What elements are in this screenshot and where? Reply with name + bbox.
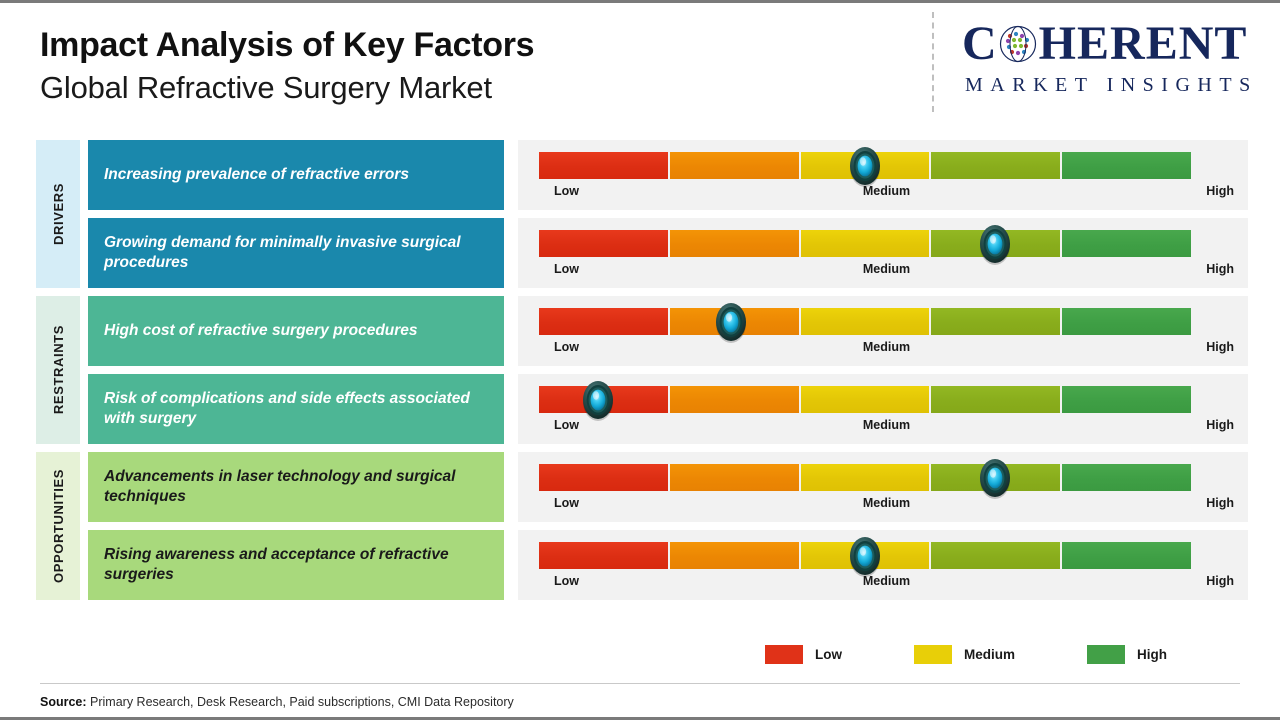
gauge-segment-2 — [670, 308, 799, 335]
gauge-segment-1 — [539, 152, 668, 179]
gauge-track — [539, 152, 1191, 179]
legend-label: High — [1137, 647, 1167, 662]
legend-swatch — [914, 645, 952, 664]
factor-row: Growing demand for minimally invasive su… — [88, 218, 1248, 288]
gauge-scale-labels: LowMediumHigh — [539, 496, 1234, 516]
top-border — [0, 0, 1280, 3]
legend-swatch — [1087, 645, 1125, 664]
gauge-segment-2 — [670, 464, 799, 491]
gauge-segment-1 — [539, 542, 668, 569]
factor-row: Risk of complications and side effects a… — [88, 374, 1248, 444]
logo-divider — [932, 12, 934, 112]
gauge-segment-2 — [670, 386, 799, 413]
gauge-scale-labels: LowMediumHigh — [539, 262, 1234, 282]
category-label-drivers: DRIVERS — [36, 140, 80, 288]
category-label-text: DRIVERS — [51, 183, 66, 245]
gauge-segment-4 — [931, 386, 1060, 413]
impact-gauge: LowMediumHigh — [518, 452, 1248, 522]
logo-tagline: MARKET INSIGHTS — [962, 74, 1258, 97]
gauge-segment-3 — [801, 542, 930, 569]
factor-label: Growing demand for minimally invasive su… — [88, 218, 504, 288]
category-block-drivers: DRIVERSIncreasing prevalence of refracti… — [36, 140, 1248, 288]
gauge-track — [539, 308, 1191, 335]
company-logo: C — [932, 8, 1262, 116]
scale-label-medium: Medium — [863, 574, 910, 588]
scale-label-low: Low — [554, 184, 579, 198]
page-subtitle: Global Refractive Surgery Market — [40, 69, 534, 106]
factor-row: Advancements in laser technology and sur… — [88, 452, 1248, 522]
impact-gauge: LowMediumHigh — [518, 530, 1248, 600]
gauge-segment-3 — [801, 386, 930, 413]
scale-label-low: Low — [554, 340, 579, 354]
gauge-segment-5 — [1062, 152, 1191, 179]
globe-dots-icon — [998, 24, 1038, 64]
source-label: Source: — [40, 695, 87, 709]
factor-row: Rising awareness and acceptance of refra… — [88, 530, 1248, 600]
scale-label-high: High — [1206, 496, 1234, 510]
gauge-segment-4 — [931, 152, 1060, 179]
legend-item: Low — [765, 645, 842, 664]
gauge-segment-5 — [1062, 308, 1191, 335]
gauge-scale-labels: LowMediumHigh — [539, 418, 1234, 438]
gauge-segment-3 — [801, 464, 930, 491]
scale-label-high: High — [1206, 340, 1234, 354]
factor-label: High cost of refractive surgery procedur… — [88, 296, 504, 366]
scale-label-high: High — [1206, 184, 1234, 198]
gauge-segment-5 — [1062, 386, 1191, 413]
gauge-segment-1 — [539, 308, 668, 335]
page-title: Impact Analysis of Key Factors — [40, 26, 534, 65]
gauge-segment-1 — [539, 230, 668, 257]
source-footer: Source: Primary Research, Desk Research,… — [40, 695, 514, 709]
scale-label-medium: Medium — [863, 340, 910, 354]
factor-label: Rising awareness and acceptance of refra… — [88, 530, 504, 600]
factor-row: High cost of refractive surgery procedur… — [88, 296, 1248, 366]
gauge-segment-2 — [670, 542, 799, 569]
scale-label-medium: Medium — [863, 418, 910, 432]
gauge-segment-5 — [1062, 230, 1191, 257]
gauge-track — [539, 464, 1191, 491]
impact-gauge: LowMediumHigh — [518, 140, 1248, 210]
category-rows: High cost of refractive surgery procedur… — [88, 296, 1248, 444]
gauge-segment-4 — [931, 542, 1060, 569]
gauge-scale-labels: LowMediumHigh — [539, 184, 1234, 204]
gauge-segment-2 — [670, 152, 799, 179]
category-label-text: OPPORTUNITIES — [51, 469, 66, 583]
scale-label-high: High — [1206, 418, 1234, 432]
gauge-segment-1 — [539, 386, 668, 413]
category-rows: Increasing prevalence of refractive erro… — [88, 140, 1248, 288]
gauge-segment-2 — [670, 230, 799, 257]
impact-gauge: LowMediumHigh — [518, 296, 1248, 366]
gauge-segment-1 — [539, 464, 668, 491]
gauge-segment-3 — [801, 308, 930, 335]
factor-label: Advancements in laser technology and sur… — [88, 452, 504, 522]
gauge-segment-3 — [801, 230, 930, 257]
legend-swatch — [765, 645, 803, 664]
gauge-track — [539, 386, 1191, 413]
scale-label-low: Low — [554, 262, 579, 276]
gauge-scale-labels: LowMediumHigh — [539, 574, 1234, 594]
page-header: Impact Analysis of Key Factors Global Re… — [40, 26, 534, 106]
category-block-opportunities: OPPORTUNITIESAdvancements in laser techn… — [36, 452, 1248, 600]
category-label-restraints: RESTRAINTS — [36, 296, 80, 444]
gauge-segment-4 — [931, 464, 1060, 491]
gauge-segment-5 — [1062, 464, 1191, 491]
scale-label-medium: Medium — [863, 496, 910, 510]
impact-gauge: LowMediumHigh — [518, 218, 1248, 288]
footer-divider — [40, 683, 1240, 684]
gauge-track — [539, 230, 1191, 257]
scale-label-medium: Medium — [863, 262, 910, 276]
impact-gauge: LowMediumHigh — [518, 374, 1248, 444]
impact-analysis-board: DRIVERSIncreasing prevalence of refracti… — [36, 140, 1248, 600]
gauge-scale-labels: LowMediumHigh — [539, 340, 1234, 360]
scale-label-low: Low — [554, 574, 579, 588]
legend-label: Low — [815, 647, 842, 662]
category-rows: Advancements in laser technology and sur… — [88, 452, 1248, 600]
logo-wordmark: HERENT — [1039, 20, 1248, 68]
category-label-text: RESTRAINTS — [51, 325, 66, 414]
legend: LowMediumHigh — [765, 645, 1167, 664]
factor-label: Risk of complications and side effects a… — [88, 374, 504, 444]
scale-label-high: High — [1206, 574, 1234, 588]
gauge-segment-4 — [931, 230, 1060, 257]
factor-label: Increasing prevalence of refractive erro… — [88, 140, 504, 210]
gauge-segment-4 — [931, 308, 1060, 335]
scale-label-low: Low — [554, 418, 579, 432]
gauge-track — [539, 542, 1191, 569]
legend-item: Medium — [914, 645, 1015, 664]
gauge-segment-3 — [801, 152, 930, 179]
legend-item: High — [1087, 645, 1167, 664]
legend-label: Medium — [964, 647, 1015, 662]
scale-label-medium: Medium — [863, 184, 910, 198]
gauge-segment-5 — [1062, 542, 1191, 569]
category-block-restraints: RESTRAINTSHigh cost of refractive surger… — [36, 296, 1248, 444]
category-label-opportunities: OPPORTUNITIES — [36, 452, 80, 600]
scale-label-low: Low — [554, 496, 579, 510]
logo-letter-c: C — [962, 20, 998, 68]
source-text: Primary Research, Desk Research, Paid su… — [87, 695, 514, 709]
scale-label-high: High — [1206, 262, 1234, 276]
factor-row: Increasing prevalence of refractive erro… — [88, 140, 1248, 210]
